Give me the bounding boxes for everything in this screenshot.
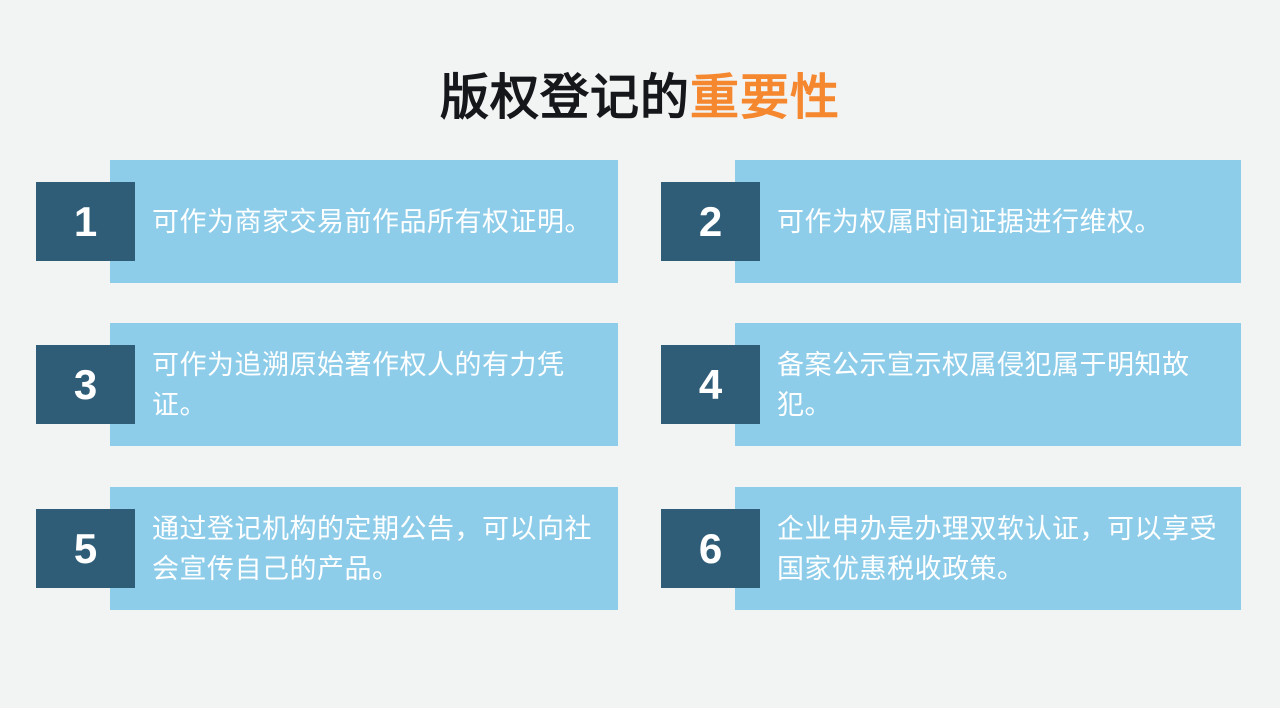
benefit-list: 1 可作为商家交易前作品所有权证明。 2 可作为权属时间证据进行维权。 3 可作… [0,160,1280,605]
item-number-badge: 4 [661,345,760,424]
page-title-accent: 重要性 [690,71,840,125]
slide-canvas: 版权登记的重要性 1 可作为商家交易前作品所有权证明。 2 可作为权属时间证据进… [0,0,1280,708]
list-item[interactable]: 6 企业申办是办理双软认证，可以享受国家优惠税收政策。 [661,487,1241,610]
item-number-badge: 2 [661,182,760,261]
list-item[interactable]: 3 可作为追溯原始著作权人的有力凭证。 [36,323,618,446]
list-item[interactable]: 1 可作为商家交易前作品所有权证明。 [36,160,618,283]
item-number-badge: 6 [661,509,760,588]
item-text: 通过登记机构的定期公告，可以向社会宣传自己的产品。 [152,509,606,589]
item-text: 企业申办是办理双软认证，可以享受国家优惠税收政策。 [777,509,1229,589]
list-item[interactable]: 4 备案公示宣示权属侵犯属于明知故犯。 [661,323,1241,446]
item-text: 可作为商家交易前作品所有权证明。 [152,202,606,242]
item-text: 可作为追溯原始著作权人的有力凭证。 [152,345,606,425]
item-number-badge: 1 [36,182,135,261]
list-item[interactable]: 5 通过登记机构的定期公告，可以向社会宣传自己的产品。 [36,487,618,610]
item-number-badge: 5 [36,509,135,588]
item-number-badge: 3 [36,345,135,424]
list-item[interactable]: 2 可作为权属时间证据进行维权。 [661,160,1241,283]
item-text: 可作为权属时间证据进行维权。 [777,202,1229,242]
item-text: 备案公示宣示权属侵犯属于明知故犯。 [777,345,1229,425]
page-title: 版权登记的重要性 [0,68,1280,128]
page-title-main: 版权登记的 [440,71,690,125]
